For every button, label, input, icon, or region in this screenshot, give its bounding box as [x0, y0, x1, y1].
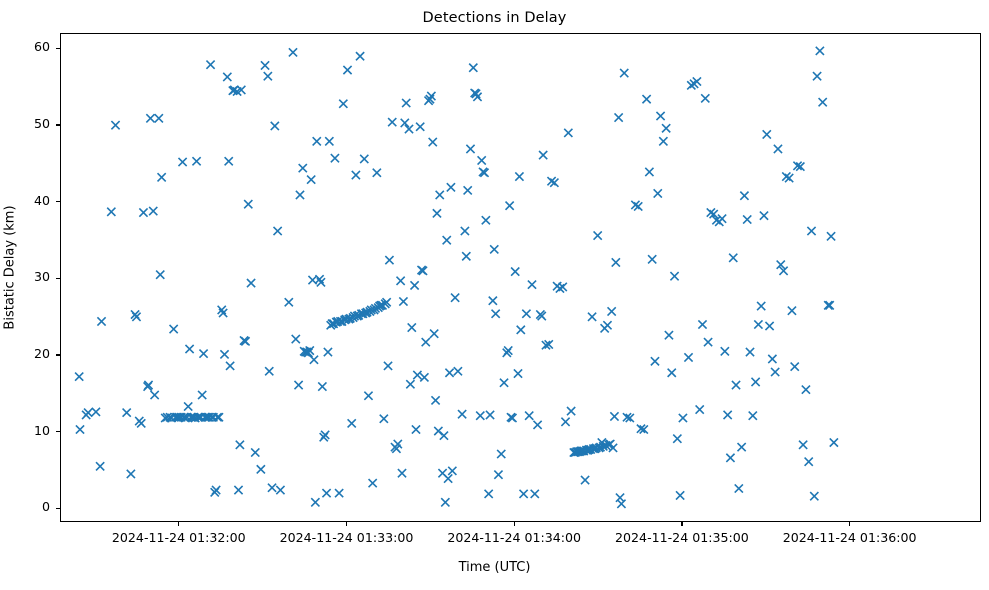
scatter-point: [219, 309, 227, 317]
scatter-point: [567, 407, 575, 415]
scatter-point: [307, 176, 315, 184]
scatter-point: [123, 409, 131, 417]
scatter-point: [433, 209, 441, 217]
scatter-point: [296, 191, 304, 199]
scatter-point: [707, 208, 715, 216]
scatter-point: [311, 498, 319, 506]
x-tick-label: 2024-11-24 01:33:00: [252, 530, 442, 545]
scatter-point: [813, 72, 821, 80]
scatter-point: [461, 227, 469, 235]
scatter-point: [810, 492, 818, 500]
scatter-point: [325, 137, 333, 145]
x-axis-label: Time (UTC): [0, 560, 989, 575]
scatter-point: [369, 479, 377, 487]
x-tick-label: 2024-11-24 01:35:00: [587, 530, 777, 545]
scatter-point: [234, 486, 242, 494]
scatter-point: [218, 306, 226, 314]
scatter-point: [588, 313, 596, 321]
scatter-point: [466, 145, 474, 153]
scatter-point: [343, 66, 351, 74]
scatter-point: [721, 347, 729, 355]
scatter-point: [420, 373, 428, 381]
scatter-point: [92, 408, 100, 416]
scatter-point: [698, 320, 706, 328]
y-tick-label: 30: [0, 269, 50, 284]
scatter-point: [486, 411, 494, 419]
scatter-point: [454, 367, 462, 375]
scatter-point: [802, 386, 810, 394]
scatter-point: [360, 155, 368, 163]
scatter-point: [373, 169, 381, 177]
scatter-point: [236, 441, 244, 449]
scatter-point: [564, 129, 572, 137]
scatter-point: [656, 112, 664, 120]
scatter-point: [416, 123, 424, 131]
scatter-point: [185, 345, 193, 353]
scatter-point: [791, 363, 799, 371]
scatter-point: [464, 186, 472, 194]
scatter-point: [268, 484, 276, 492]
scatter-point: [556, 284, 564, 292]
scatter-point: [251, 448, 259, 456]
scatter-point: [271, 122, 279, 130]
scatter-point: [244, 200, 252, 208]
y-tick-label: 0: [0, 499, 50, 514]
x-tick-mark: [849, 522, 850, 526]
scatter-point: [318, 382, 326, 390]
x-tick-label: 2024-11-24 01:36:00: [755, 530, 945, 545]
scatter-point: [264, 72, 272, 80]
scatter-point: [559, 283, 567, 291]
scatter-point: [155, 114, 163, 122]
x-tick-label: 2024-11-24 01:34:00: [419, 530, 609, 545]
scatter-point: [704, 338, 712, 346]
scatter-point: [774, 145, 782, 153]
scatter-point: [257, 465, 265, 473]
scatter-point: [399, 297, 407, 305]
scatter-point: [107, 208, 115, 216]
scatter-point: [634, 202, 642, 210]
scatter-point: [285, 298, 293, 306]
scatter-point: [782, 172, 790, 180]
scatter-point: [615, 113, 623, 121]
scatter-point: [261, 61, 269, 69]
scatter-point: [322, 489, 330, 497]
scatter-point: [819, 98, 827, 106]
scatter-point: [519, 490, 527, 498]
scatter-point: [469, 64, 477, 72]
scatter-point: [732, 381, 740, 389]
scatter-point: [830, 438, 838, 446]
scatter-point: [430, 330, 438, 338]
scatter-point: [215, 413, 223, 421]
scatter-point: [440, 432, 448, 440]
scatter-point: [799, 441, 807, 449]
scatter-point: [406, 380, 414, 388]
scatter-point: [213, 413, 221, 421]
scatter-point: [199, 350, 207, 358]
scatter-point: [276, 486, 284, 494]
scatter-point: [170, 325, 178, 333]
scatter-point: [746, 348, 754, 356]
scatter-point: [448, 467, 456, 475]
scatter-point: [497, 450, 505, 458]
scatter-point: [380, 415, 388, 423]
scatter-point: [462, 252, 470, 260]
scatter-point: [156, 271, 164, 279]
scatter-point: [751, 378, 759, 386]
scatter-point: [547, 177, 555, 185]
scatter-point: [620, 69, 628, 77]
scatter-point: [422, 338, 430, 346]
scatter-point: [603, 321, 611, 329]
scatter-point: [763, 130, 771, 138]
scatter-point: [429, 138, 437, 146]
scatter-point: [476, 412, 484, 420]
scatter-point: [485, 490, 493, 498]
scatter-point: [489, 297, 497, 305]
scatter-point: [447, 183, 455, 191]
scatter-point: [511, 268, 519, 276]
x-tick-mark: [514, 522, 515, 526]
x-tick-mark: [681, 522, 682, 526]
scatter-point: [137, 419, 145, 427]
scatter-point: [397, 277, 405, 285]
scatter-point: [223, 73, 231, 81]
y-tick-label: 20: [0, 346, 50, 361]
scatter-point: [539, 151, 547, 159]
scatter-point: [531, 490, 539, 498]
scatter-point: [111, 121, 119, 129]
scatter-point: [97, 317, 105, 325]
scatter-point: [84, 409, 92, 417]
scatter-point: [364, 392, 372, 400]
scatter-point: [670, 272, 678, 280]
scatter-point: [412, 425, 420, 433]
scatter-point: [408, 323, 416, 331]
scatter-point: [76, 425, 84, 433]
scatter-point: [402, 99, 410, 107]
scatter-point: [743, 215, 751, 223]
scatter-point: [561, 418, 569, 426]
scatter-point: [525, 412, 533, 420]
x-tick-mark: [178, 522, 179, 526]
scatter-point: [648, 255, 656, 263]
scatter-point: [310, 356, 318, 364]
scatter-point: [550, 179, 558, 187]
scatter-point: [198, 391, 206, 399]
scatter-point: [494, 471, 502, 479]
scatter-point: [673, 435, 681, 443]
scatter-point: [436, 191, 444, 199]
x-tick-mark: [346, 522, 347, 526]
scatter-point: [701, 94, 709, 102]
scatter-markers: [61, 34, 981, 522]
scatter-point: [96, 462, 104, 470]
scatter-point: [726, 454, 734, 462]
scatter-point: [149, 207, 157, 215]
scatter-point: [827, 232, 835, 240]
scatter-point: [684, 353, 692, 361]
scatter-point: [331, 154, 339, 162]
scatter-point: [398, 469, 406, 477]
scatter-point: [289, 48, 297, 56]
scatter-point: [294, 381, 302, 389]
scatter-point: [651, 357, 659, 365]
scatter-point: [444, 474, 452, 482]
scatter-point: [184, 402, 192, 410]
scatter-point: [292, 335, 300, 343]
scatter-point: [724, 411, 732, 419]
scatter-point: [517, 326, 525, 334]
scatter-point: [665, 331, 673, 339]
scatter-point: [127, 470, 135, 478]
scatter-point: [410, 281, 418, 289]
scatter-point: [528, 281, 536, 289]
plot-area: [60, 33, 981, 522]
scatter-point: [659, 137, 667, 145]
scatter-point: [324, 348, 332, 356]
scatter-point: [631, 201, 639, 209]
scatter-point: [533, 421, 541, 429]
scatter-point: [771, 368, 779, 376]
scatter-point: [760, 212, 768, 220]
scatter-point: [75, 373, 83, 381]
scatter-point: [274, 227, 282, 235]
scatter-point: [609, 444, 617, 452]
scatter-point: [788, 307, 796, 315]
scatter-point: [139, 208, 147, 216]
scatter-point: [146, 114, 154, 122]
scatter-point: [754, 320, 762, 328]
scatter-point: [445, 369, 453, 377]
scatter-point: [265, 367, 273, 375]
scatter-point: [645, 168, 653, 176]
scatter-point: [662, 124, 670, 132]
scatter-point: [339, 100, 347, 108]
scatter-point: [384, 362, 392, 370]
matplotlib-figure: Detections in Delay Bistatic Delay (km) …: [0, 0, 989, 590]
scatter-point: [225, 157, 233, 165]
scatter-point: [514, 369, 522, 377]
scatter-point: [765, 322, 773, 330]
scatter-point: [668, 369, 676, 377]
scatter-point: [612, 258, 620, 266]
scatter-point: [352, 171, 360, 179]
scatter-point: [385, 256, 393, 264]
scatter-point: [356, 52, 364, 60]
scatter-point: [158, 173, 166, 181]
scatter-point: [749, 412, 757, 420]
scatter-point: [206, 61, 214, 69]
scatter-point: [443, 236, 451, 244]
scatter-point: [718, 215, 726, 223]
scatter-point: [581, 476, 589, 484]
scatter-point: [617, 500, 625, 508]
y-tick-label: 40: [0, 193, 50, 208]
scatter-point: [824, 301, 832, 309]
scatter-point: [729, 254, 737, 262]
scatter-point: [178, 158, 186, 166]
scatter-point: [388, 118, 396, 126]
scatter-point: [478, 156, 486, 164]
scatter-point: [431, 396, 439, 404]
scatter-point: [807, 227, 815, 235]
scatter-point: [785, 174, 793, 182]
scatter-point: [482, 216, 490, 224]
scatter-point: [317, 278, 325, 286]
scatter-point: [740, 192, 748, 200]
scatter-point: [506, 202, 514, 210]
scatter-point: [826, 301, 834, 309]
scatter-point: [522, 310, 530, 318]
scatter-point: [492, 310, 500, 318]
scatter-point: [500, 379, 508, 387]
y-tick-label: 10: [0, 423, 50, 438]
scatter-point: [696, 405, 704, 413]
scatter-point: [151, 391, 159, 399]
scatter-point: [220, 350, 228, 358]
scatter-point: [441, 498, 449, 506]
scatter-point: [515, 172, 523, 180]
chart-title: Detections in Delay: [0, 10, 989, 26]
scatter-point: [473, 93, 481, 101]
scatter-point: [226, 362, 234, 370]
scatter-point: [451, 294, 459, 302]
scatter-point: [816, 47, 824, 55]
scatter-point: [608, 307, 616, 315]
scatter-point: [247, 279, 255, 287]
scatter-point: [299, 164, 307, 172]
y-tick-label: 60: [0, 39, 50, 54]
scatter-point: [610, 412, 618, 420]
scatter-point: [805, 458, 813, 466]
scatter-point: [654, 189, 662, 197]
scatter-point: [335, 489, 343, 497]
scatter-point: [490, 245, 498, 253]
scatter-point: [192, 157, 200, 165]
scatter-point: [348, 419, 356, 427]
scatter-point: [642, 95, 650, 103]
y-tick-label: 50: [0, 116, 50, 131]
scatter-point: [315, 275, 323, 283]
scatter-point: [735, 484, 743, 492]
scatter-point: [757, 302, 765, 310]
scatter-point: [679, 414, 687, 422]
x-tick-label: 2024-11-24 01:32:00: [84, 530, 274, 545]
y-axis-label: Bistatic Delay (km): [3, 183, 18, 353]
scatter-point: [594, 231, 602, 239]
scatter-point: [458, 410, 466, 418]
scatter-point: [413, 371, 421, 379]
scatter-point: [676, 491, 684, 499]
scatter-point: [768, 355, 776, 363]
scatter-point: [313, 137, 321, 145]
scatter-point: [738, 443, 746, 451]
